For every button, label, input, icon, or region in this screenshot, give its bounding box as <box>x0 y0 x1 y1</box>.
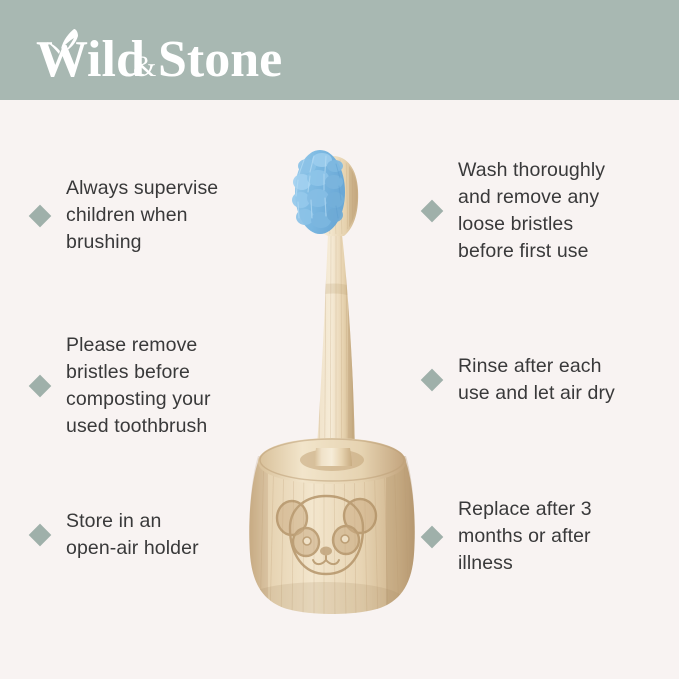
tip-replace-after-3-months: Replace after 3 months or after illness <box>424 496 676 577</box>
diamond-bullet-icon <box>29 375 52 398</box>
tip-text: Store in an open-air holder <box>66 508 199 562</box>
brand-word-stone: Stone <box>158 31 282 82</box>
brand-ampersand: & <box>133 50 156 82</box>
brand-logo: Wild & Stone <box>36 28 316 82</box>
care-instructions-board: Always supervise children when brushing … <box>0 100 679 679</box>
page-header: Wild & Stone <box>0 0 679 100</box>
tip-text: Rinse after each use and let air dry <box>458 353 615 407</box>
tip-text: Please remove bristles before composting… <box>66 332 211 440</box>
brand-word-wild: Wild <box>36 31 145 82</box>
toothbrush-holder <box>244 438 418 624</box>
tip-wash-before-first-use: Wash thoroughly and remove any loose bri… <box>424 157 676 265</box>
tip-text: Wash thoroughly and remove any loose bri… <box>458 157 605 265</box>
diamond-bullet-icon <box>29 524 52 547</box>
toothbrush-bristles <box>292 150 345 234</box>
tip-text: Always supervise children when brushing <box>66 175 218 256</box>
tip-text: Replace after 3 months or after illness <box>458 496 592 577</box>
product-photo-toothbrush-and-holder <box>236 130 446 670</box>
diamond-bullet-icon <box>29 204 52 227</box>
tip-rinse-and-air-dry: Rinse after each use and let air dry <box>424 353 676 407</box>
handle-through-rim <box>315 448 352 466</box>
